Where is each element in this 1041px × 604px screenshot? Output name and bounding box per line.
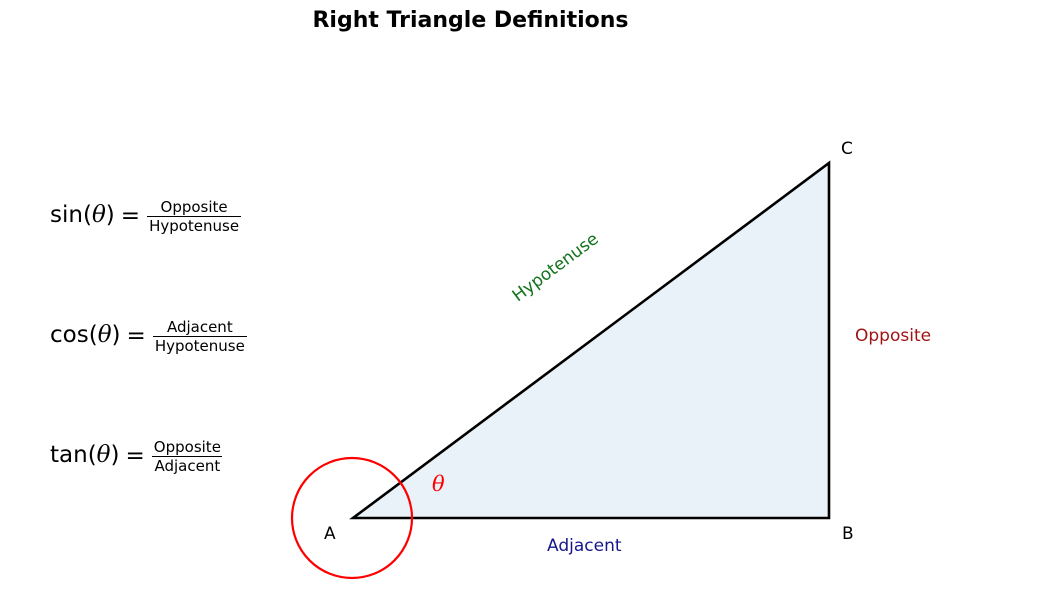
vertex-label-b: B <box>842 526 854 543</box>
triangle-shape <box>353 163 829 518</box>
side-label-adjacent: Adjacent <box>547 538 622 555</box>
theta-angle-label: θ <box>432 474 445 495</box>
side-label-opposite: Opposite <box>855 328 931 345</box>
trigonometry-figure: Right Triangle Definitions sin(θ) = Oppo… <box>0 0 1041 604</box>
vertex-label-a: A <box>324 526 336 543</box>
vertex-label-c: C <box>841 141 853 158</box>
